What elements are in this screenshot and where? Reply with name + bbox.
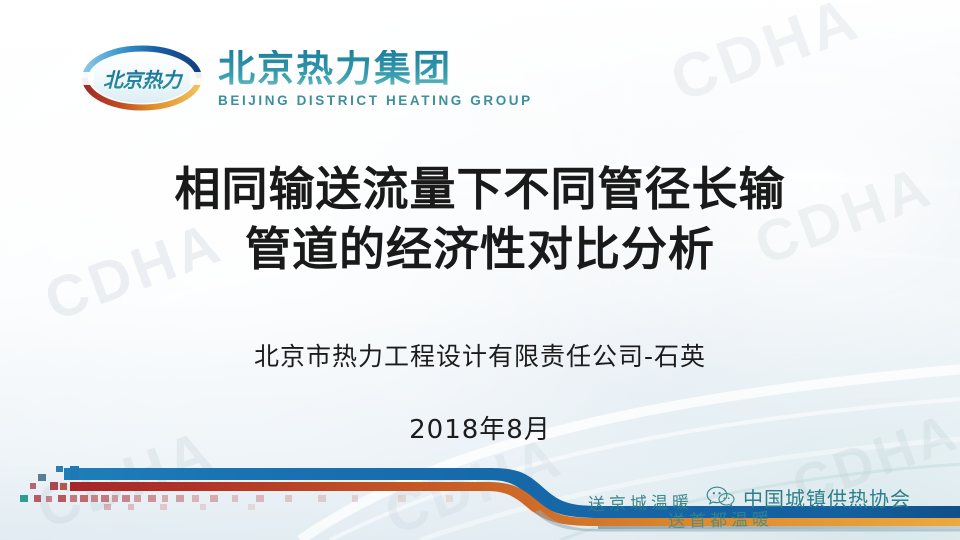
beijing-heating-group-emblem-icon: 北京热力 — [80, 44, 204, 112]
wechat-icon — [706, 485, 736, 511]
association-mark: 中国城镇供热协会 — [706, 483, 911, 512]
company-name-cn: 北京热力集团 — [218, 50, 533, 88]
title-line-2: 管道的经济性对比分析 — [0, 220, 960, 280]
title-slide: CDHA CDHA CDHA CDHA CDHA CDHA — [0, 0, 960, 540]
slide-subtitle-author: 北京市热力工程设计有限责任公司-石英 — [0, 337, 960, 373]
brand-logo: 北京热力 北京热力集团 BEIJING DISTRICT HEATING GRO… — [80, 44, 533, 112]
watermark-cdha: CDHA — [662, 0, 870, 116]
slide-title: 相同输送流量下不同管径长输 管道的经济性对比分析 — [0, 160, 960, 280]
brand-wordmark: 北京热力集团 BEIJING DISTRICT HEATING GROUP — [218, 48, 533, 107]
svg-text:北京热力: 北京热力 — [103, 68, 183, 92]
company-name-en: BEIJING DISTRICT HEATING GROUP — [218, 93, 533, 108]
slide-date: 2018年8月 — [0, 409, 960, 446]
association-name: 中国城镇供热协会 — [743, 483, 911, 512]
title-line-1: 相同输送流量下不同管径长输 — [0, 160, 960, 220]
